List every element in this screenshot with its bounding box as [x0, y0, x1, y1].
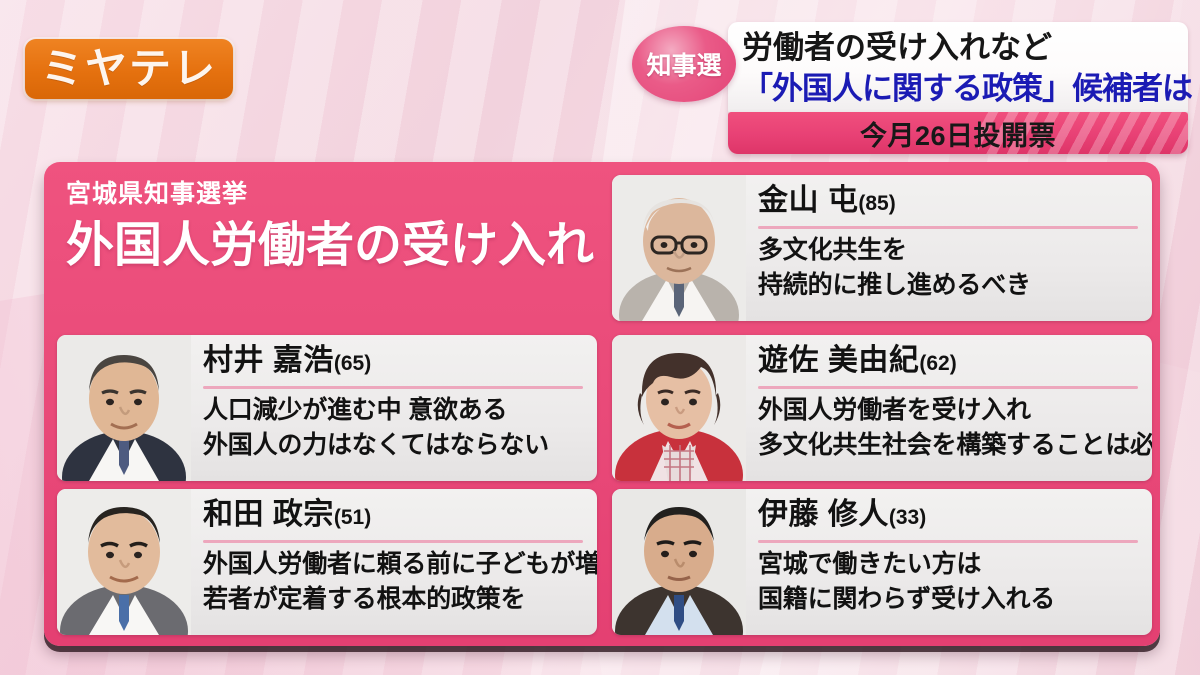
station-logo-text: ミヤテレ — [41, 48, 217, 90]
card-divider — [203, 386, 583, 389]
candidate-name-line: 遊佐 美由紀(62) — [758, 341, 1144, 384]
headline-line-2: 「外国人に関する政策」候補者は — [742, 68, 1180, 110]
candidate-photo — [612, 175, 746, 321]
candidate-photo — [612, 489, 746, 635]
candidate-card[interactable]: 伊藤 修人(33) 宮城で働きたい方は 国籍に関わらず受け入れる — [612, 489, 1152, 635]
candidate-quote-line-2: 外国人の力はなくてはならない — [203, 428, 589, 463]
portrait-wada-icon — [57, 489, 191, 635]
candidate-age: (51) — [334, 506, 371, 529]
candidate-quote-line-1: 人口減少が進む中 意欲ある — [203, 393, 589, 428]
panel-subtitle: 宮城県知事選挙 — [66, 178, 606, 210]
candidate-age: (33) — [889, 506, 926, 529]
candidate-card[interactable]: 村井 嘉浩(65) 人口減少が進む中 意欲ある 外国人の力はなくてはならない — [57, 335, 597, 481]
candidate-photo — [612, 335, 746, 481]
candidate-quote-line-2: 若者が定着する根本的政策を — [203, 582, 589, 617]
candidate-name: 和田 政宗 — [203, 498, 334, 531]
headline-banner: 労働者の受け入れなど 「外国人に関する政策」候補者は 今月26日投開票 知事選 — [632, 12, 1188, 162]
card-divider — [758, 226, 1138, 229]
main-panel: 宮城県知事選挙 外国人労働者の受け入れ — [44, 162, 1160, 646]
candidate-info: 伊藤 修人(33) 宮城で働きたい方は 国籍に関わらず受け入れる — [746, 489, 1152, 635]
headline-white-plate: 労働者の受け入れなど 「外国人に関する政策」候補者は — [728, 22, 1188, 114]
candidate-name: 伊藤 修人 — [758, 498, 889, 531]
candidate-info: 遊佐 美由紀(62) 外国人労働者を受け入れ 多文化共生社会を構築することは必要 — [746, 335, 1152, 481]
candidate-info: 和田 政宗(51) 外国人労働者に頼る前に子どもが増え 若者が定着する根本的政策… — [191, 489, 597, 635]
candidate-info: 金山 屯(85) 多文化共生を 持続的に推し進めるべき — [746, 175, 1152, 321]
candidate-card[interactable]: 遊佐 美由紀(62) 外国人労働者を受け入れ 多文化共生社会を構築することは必要 — [612, 335, 1152, 481]
station-logo: ミヤテレ — [25, 39, 233, 99]
panel-title-block: 宮城県知事選挙 外国人労働者の受け入れ — [66, 178, 606, 276]
panel-title: 外国人労働者の受け入れ — [66, 216, 606, 276]
subbanner-text: 今月26日投開票 — [860, 114, 1056, 153]
candidate-quote-line-2: 持続的に推し進めるべき — [758, 268, 1144, 303]
headline-subbanner: 今月26日投開票 — [728, 112, 1188, 154]
candidate-quote-line-1: 外国人労働者を受け入れ — [758, 393, 1144, 428]
candidate-photo — [57, 335, 191, 481]
portrait-ito-icon — [612, 489, 746, 635]
candidate-photo — [57, 489, 191, 635]
candidate-name: 金山 屯 — [758, 184, 858, 217]
candidate-name-line: 和田 政宗(51) — [203, 495, 589, 538]
portrait-murai-icon — [57, 335, 191, 481]
headline-line-1: 労働者の受け入れなど — [742, 28, 1180, 68]
election-badge-label: 知事選 — [646, 46, 721, 82]
candidate-card[interactable]: 金山 屯(85) 多文化共生を 持続的に推し進めるべき — [612, 175, 1152, 321]
candidate-age: (65) — [334, 352, 371, 375]
candidate-quote-line-1: 多文化共生を — [758, 233, 1144, 268]
candidate-name: 遊佐 美由紀 — [758, 344, 919, 377]
card-divider — [758, 386, 1138, 389]
portrait-yusa-icon — [612, 335, 746, 481]
candidate-name: 村井 嘉浩 — [203, 344, 334, 377]
candidate-info: 村井 嘉浩(65) 人口減少が進む中 意欲ある 外国人の力はなくてはならない — [191, 335, 597, 481]
card-divider — [758, 540, 1138, 543]
candidate-quote-line-1: 宮城で働きたい方は — [758, 547, 1144, 582]
election-badge: 知事選 — [632, 26, 736, 102]
candidate-age: (62) — [919, 352, 956, 375]
candidate-quote-line-2: 国籍に関わらず受け入れる — [758, 582, 1144, 617]
card-divider — [203, 540, 583, 543]
portrait-kanayama-icon — [612, 175, 746, 321]
candidate-name-line: 金山 屯(85) — [758, 181, 1144, 224]
candidate-age: (85) — [858, 192, 895, 215]
candidate-quote-line-1: 外国人労働者に頼る前に子どもが増え — [203, 547, 589, 582]
candidate-card[interactable]: 和田 政宗(51) 外国人労働者に頼る前に子どもが増え 若者が定着する根本的政策… — [57, 489, 597, 635]
candidate-name-line: 村井 嘉浩(65) — [203, 341, 589, 384]
candidate-name-line: 伊藤 修人(33) — [758, 495, 1144, 538]
candidate-quote-line-2: 多文化共生社会を構築することは必要 — [758, 428, 1144, 463]
